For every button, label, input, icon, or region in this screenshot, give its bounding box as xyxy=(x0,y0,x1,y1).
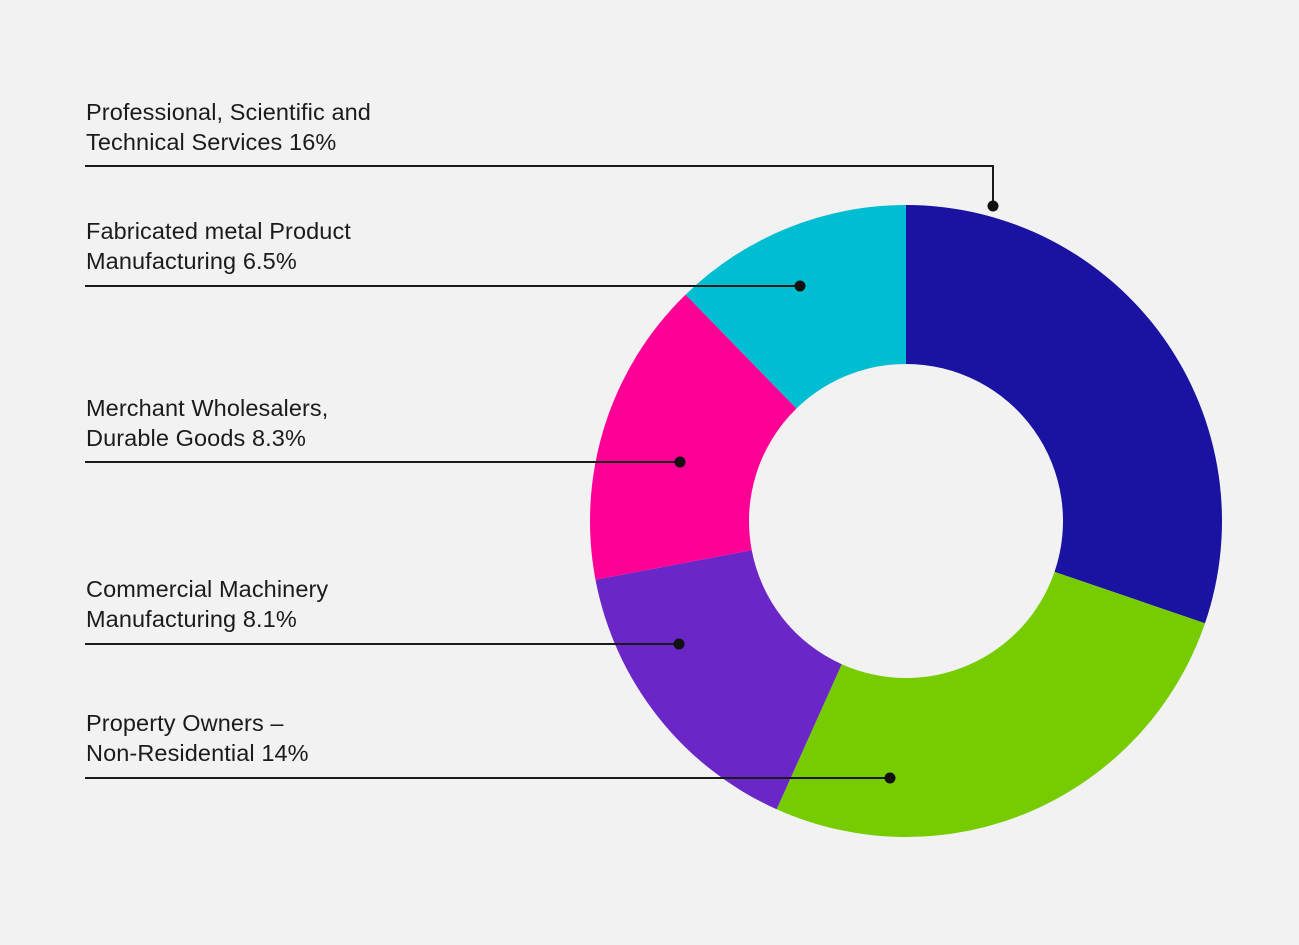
callout-endpoint-dot xyxy=(988,201,999,212)
callout-label-line1: Commercial Machinery xyxy=(86,576,328,602)
callout-label-line1: Professional, Scientific and xyxy=(86,99,371,125)
callout-label-line1: Property Owners – xyxy=(86,710,284,736)
callout-endpoint-dot xyxy=(674,639,685,650)
callout-endpoint-dot xyxy=(795,281,806,292)
callout-endpoint-dot xyxy=(675,457,686,468)
callout-label-line1: Merchant Wholesalers, xyxy=(86,395,328,421)
callout-label-line2: Technical Services 16% xyxy=(86,129,336,155)
callout-label-line1: Fabricated metal Product xyxy=(86,218,351,244)
callout-label-line2: Non-Residential 14% xyxy=(86,740,309,766)
callout-label-line2: Manufacturing 8.1% xyxy=(86,606,297,632)
callout-label-line2: Manufacturing 6.5% xyxy=(86,248,297,274)
callout-label-line2: Durable Goods 8.3% xyxy=(86,425,306,451)
callout-endpoint-dot xyxy=(885,773,896,784)
donut-chart-figure: Professional, Scientific andTechnical Se… xyxy=(0,0,1299,945)
chart-canvas: Professional, Scientific andTechnical Se… xyxy=(0,0,1299,945)
